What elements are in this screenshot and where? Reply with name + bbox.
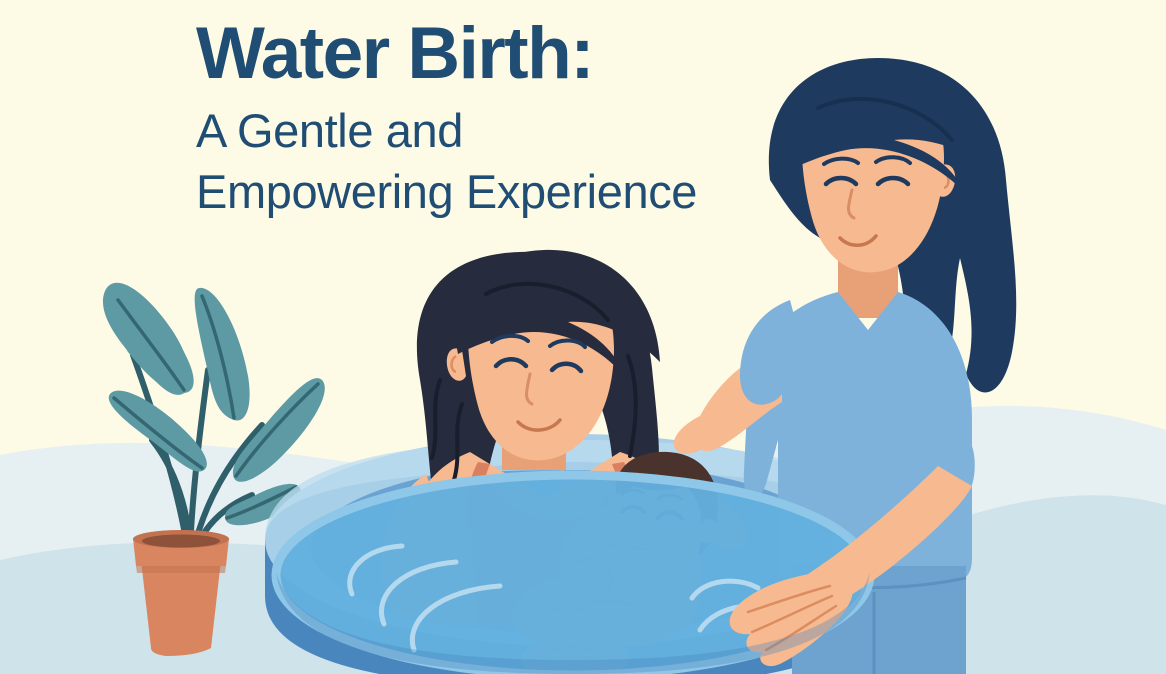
pot-body: [141, 560, 221, 656]
poster-canvas: Water Birth: A Gentle and Empowering Exp…: [0, 0, 1166, 674]
pot-soil: [142, 535, 220, 548]
illustration-artwork: [0, 0, 1166, 674]
pot-rim-shade: [136, 566, 226, 573]
